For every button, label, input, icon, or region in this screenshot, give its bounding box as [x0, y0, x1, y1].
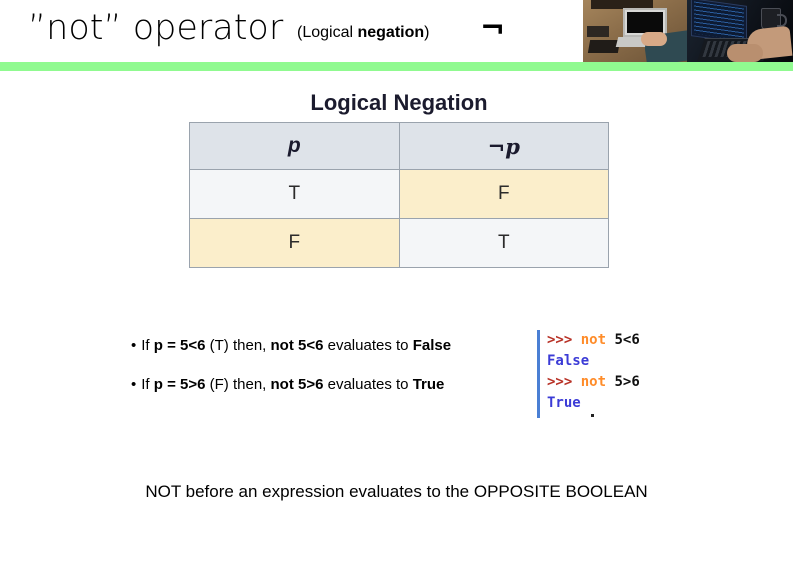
- console-output-false: False: [547, 353, 589, 369]
- laptop-on-desk-photo: [583, 0, 687, 62]
- table-row: T F: [190, 170, 609, 219]
- cell-not-p-row1: F: [399, 170, 609, 219]
- person-hand: [641, 32, 667, 46]
- table-row: F T: [190, 219, 609, 268]
- bullet-0-seg1: If: [141, 337, 154, 354]
- console-prompt: >>>: [547, 332, 572, 348]
- console-line: True: [547, 393, 692, 414]
- bullet-0-seg3: (T) then,: [205, 337, 270, 354]
- person-hand: [727, 44, 763, 62]
- bullet-1-seg5: evaluates to: [323, 376, 412, 393]
- code-on-screen: [694, 1, 744, 40]
- subtitle-emphasis: negation: [357, 24, 424, 41]
- header-photo-strip: [583, 0, 793, 62]
- console-scan-artifact: [591, 414, 594, 417]
- bullet-list: •If p = 5<6 (T) then, not 5<6 evaluates …: [131, 337, 531, 415]
- laptop-screen: [627, 12, 663, 33]
- bullet-0-seg4: not 5<6: [271, 337, 324, 354]
- mousepad: [587, 26, 609, 37]
- bullet-1-seg2: p = 5>6: [154, 376, 206, 393]
- bullet-1-seg6: True: [413, 376, 445, 393]
- coding-laptop-photo: [687, 0, 793, 62]
- console-line: >>> not 5>6: [547, 372, 692, 393]
- table-header-row: p ¬p: [190, 123, 609, 170]
- cell-p-row1: T: [190, 170, 400, 219]
- truth-table-head: p ¬p: [190, 123, 609, 170]
- bullet-marker: •: [131, 337, 136, 354]
- page-subtitle: (Logical negation): [297, 24, 429, 42]
- column-header-not-p: ¬p: [399, 123, 609, 170]
- list-item: •If p = 5<6 (T) then, not 5<6 evaluates …: [131, 337, 531, 354]
- truth-table: p ¬p T F F T: [189, 122, 609, 268]
- bullet-1-seg3: (F) then,: [205, 376, 270, 393]
- cell-not-p-row2: T: [399, 219, 609, 268]
- subtitle-suffix: ): [424, 24, 429, 41]
- bullet-marker: •: [131, 376, 136, 393]
- slide-header: ”not” operator (Logical negation) ¬: [0, 0, 793, 62]
- column-header-p: p: [190, 123, 400, 170]
- console-prompt: >>>: [547, 374, 572, 390]
- console-expression: 5>6: [614, 374, 639, 390]
- subtitle-prefix: (Logical: [297, 24, 357, 41]
- bullet-1-seg4: not 5>6: [271, 376, 324, 393]
- console-output-true: True: [547, 395, 581, 411]
- list-item: •If p = 5>6 (F) then, not 5>6 evaluates …: [131, 376, 531, 393]
- negation-symbol-icon: ¬: [480, 14, 505, 44]
- summary-text: NOT before an expression evaluates to th…: [0, 482, 793, 502]
- console-keyword-not: not: [581, 374, 606, 390]
- bullet-0-seg6: False: [413, 337, 451, 354]
- slide-canvas: ”not” operator (Logical negation) ¬: [0, 0, 793, 561]
- truth-table-caption: Logical Negation: [182, 88, 616, 116]
- truth-table-block: Logical Negation p ¬p T F F T: [182, 88, 616, 300]
- console-line: False: [547, 351, 692, 372]
- bullet-0-seg5: evaluates to: [323, 337, 412, 354]
- bullet-1-seg1: If: [141, 376, 154, 393]
- page-title: ”not” operator: [28, 8, 283, 48]
- console-line: >>> not 5<6: [547, 330, 692, 351]
- cell-p-row2: F: [190, 219, 400, 268]
- console-expression: 5<6: [614, 332, 639, 348]
- truth-table-body: T F F T: [190, 170, 609, 268]
- bullet-0-seg2: p = 5<6: [154, 337, 206, 354]
- console-keyword-not: not: [581, 332, 606, 348]
- python-console-snippet: >>> not 5<6 False >>> not 5>6 True: [537, 330, 692, 418]
- green-accent-bar: [0, 62, 793, 71]
